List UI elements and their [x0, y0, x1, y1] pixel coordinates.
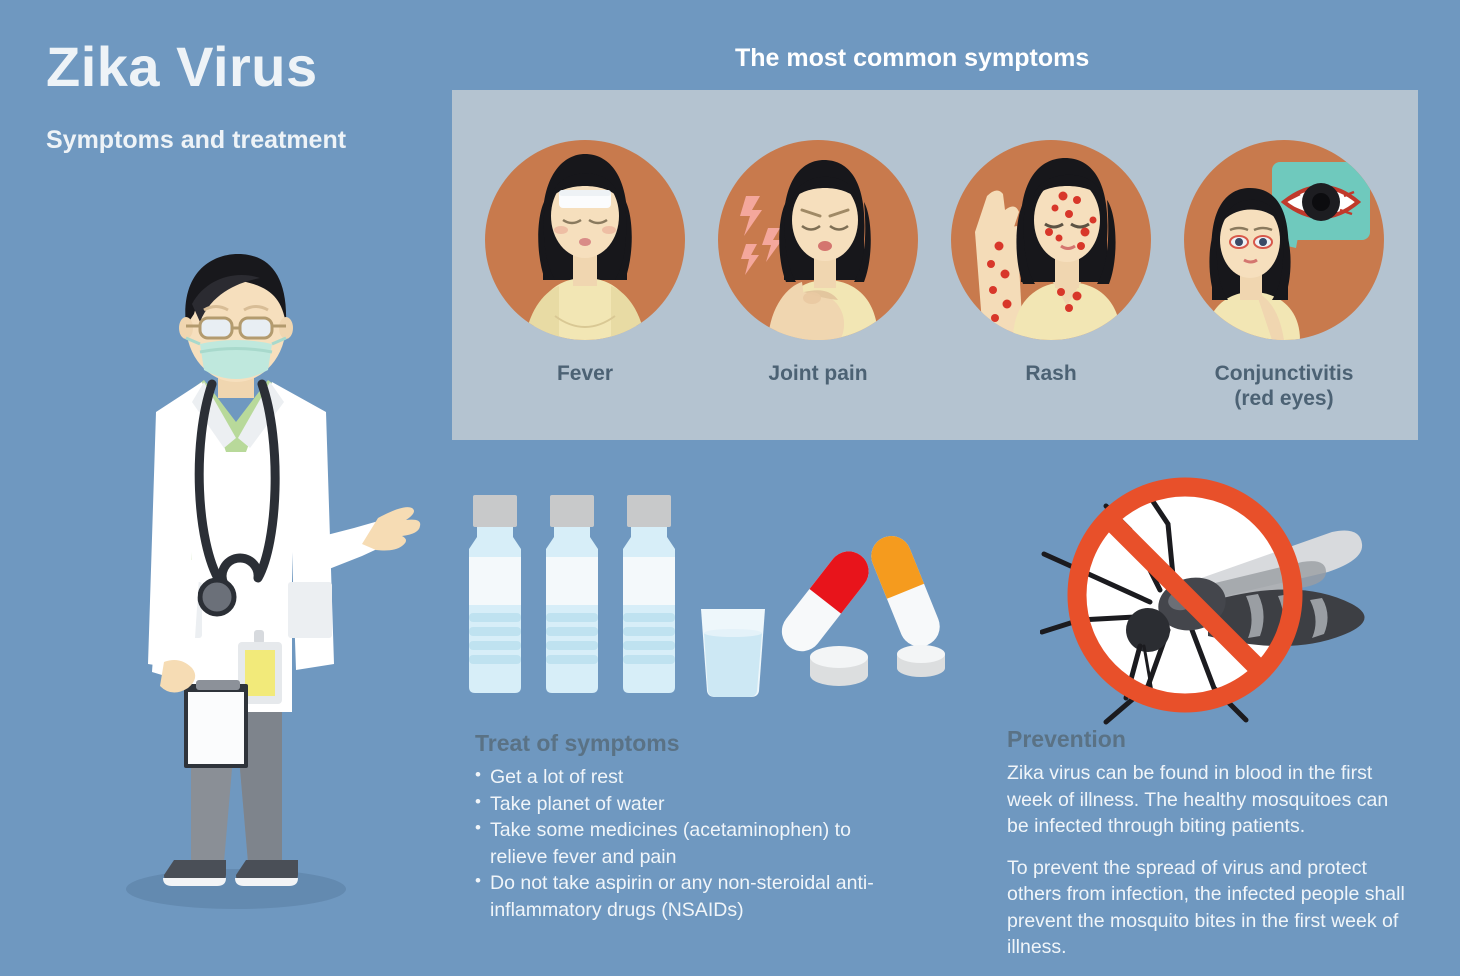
symptom-label-conjunctivitis-line1: Conjunctivitis [1215, 362, 1354, 385]
paragraph: To prevent the spread of virus and prote… [1007, 855, 1412, 961]
symptom-label-joint-pain: Joint pain [713, 362, 923, 387]
treatment-heading: Treat of symptoms [475, 730, 680, 757]
clipboard-clip [196, 680, 240, 690]
water-bottle-icon [469, 495, 521, 693]
water-bottle-icon [546, 495, 598, 693]
paragraph: Zika virus can be found in blood in the … [1007, 760, 1412, 840]
list-item: Do not take aspirin or any non-steroidal… [475, 870, 875, 923]
fever-icon [485, 140, 685, 340]
clipboard-paper [188, 692, 244, 764]
water-glass-icon [701, 609, 765, 697]
prevention-heading: Prevention [1007, 726, 1126, 753]
list-item: Take some medicines (acetaminophen) to r… [475, 817, 875, 870]
surgical-mask [200, 340, 272, 379]
badge-photo [245, 650, 275, 696]
pill-tablet-icon [897, 645, 945, 677]
list-item: Get a lot of rest [475, 764, 875, 791]
list-item: Take planet of water [475, 791, 875, 818]
water-bottle-icon [623, 495, 675, 693]
symptom-label-conjunctivitis: Conjunctivitis (red eyes) [1179, 362, 1389, 412]
treatment-list: Get a lot of rest Take planet of water T… [475, 764, 875, 923]
doctor-pointing-illustration [96, 252, 426, 912]
symptoms-panel: Fever [452, 90, 1418, 440]
symptom-label-conjunctivitis-line2: (red eyes) [1234, 387, 1333, 410]
symptom-item-fever[interactable]: Fever [480, 140, 690, 387]
pill-capsule-icon [774, 543, 877, 659]
doctor-shoe-left-sole [163, 878, 226, 886]
treatment-illustration [455, 485, 955, 710]
doctor-ear-left [179, 317, 193, 339]
symptom-item-rash[interactable]: Rash [946, 140, 1156, 387]
symptom-label-fever: Fever [480, 362, 690, 387]
prevention-text: Zika virus can be found in blood in the … [1007, 760, 1412, 976]
glasses-lens-left [200, 318, 232, 338]
pill-capsule-icon [865, 530, 946, 653]
symptoms-section-heading: The most common symptoms [735, 44, 1089, 73]
infographic-canvas: Zika Virus Symptoms and treatment The mo… [0, 0, 1460, 972]
symptom-item-joint-pain[interactable]: Joint pain [713, 140, 923, 387]
page-subtitle: Symptoms and treatment [46, 126, 346, 155]
doctor-ear-right [279, 317, 293, 339]
doctor-pocket-right [288, 582, 332, 638]
rash-icon [951, 140, 1151, 340]
badge-clip [254, 630, 264, 644]
symptom-label-rash: Rash [946, 362, 1156, 387]
stethoscope-chestpiece [200, 580, 234, 614]
joint-pain-icon [718, 140, 918, 340]
symptom-item-conjunctivitis[interactable]: Conjunctivitis (red eyes) [1179, 140, 1389, 412]
page-title: Zika Virus [46, 34, 318, 99]
pill-tablet-icon [810, 646, 868, 686]
conjunctivitis-icon [1184, 140, 1384, 340]
glasses-lens-right [240, 318, 272, 338]
no-mosquito-icon [1040, 470, 1400, 740]
doctor-shoe-right-sole [235, 878, 298, 886]
